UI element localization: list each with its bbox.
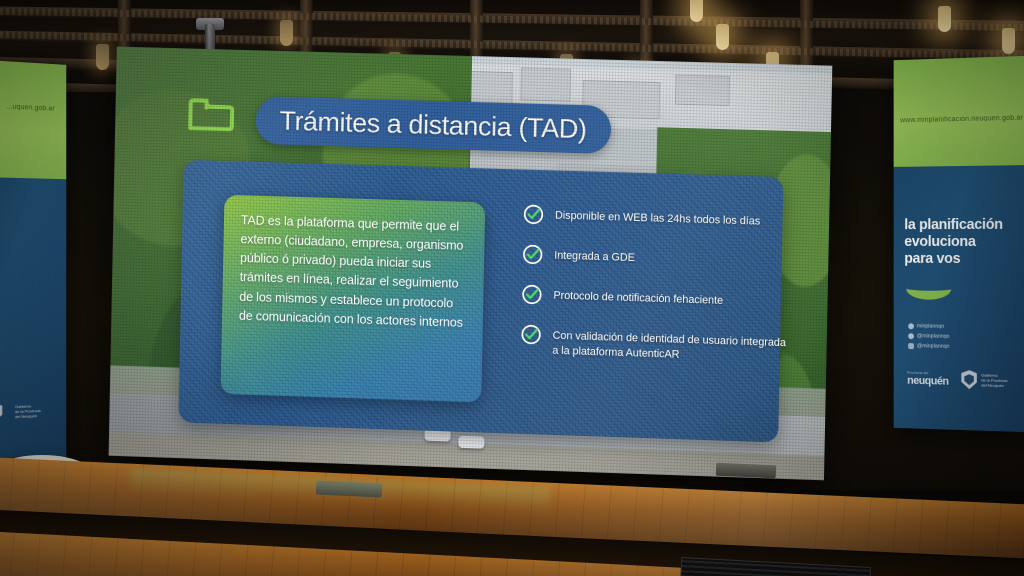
banner-left-gov-text: Gobierno de la Provincia del Neuquén [15,403,41,420]
check-circle-icon [523,204,544,226]
facebook-handle: minplannqn [917,321,944,331]
banner-right-slogan-2: evoluciona [904,235,975,250]
ceiling-spotlight [96,44,109,70]
twitter-handle: @minplannqn [917,331,950,341]
banner-left: ...uquen.gob.ar cación na Gobierno de la… [0,59,66,465]
twitter-icon [908,333,914,339]
stage-front [0,434,1024,576]
banner-left-logo: Gobierno de la Provincia del Neuquén [0,401,41,422]
list-item-label: Integrada a GDE [554,247,635,267]
banner-right-logo: Provincia del neuquén Gobierno de la Pro… [907,369,1007,390]
banner-right-green-header [894,56,1024,167]
folder-icon [186,94,236,135]
mount-plate [716,463,777,479]
ceiling-spotlight [1002,28,1015,54]
social-row-facebook: minplannqn [908,321,949,332]
neuquen-wordmark: Provincia del neuquén [907,370,948,387]
check-circle-icon [520,324,541,346]
check-circle-icon [522,244,543,266]
facebook-icon [908,323,914,329]
slide-feature-list: Disponible en WEB las 24hs todos los día… [520,206,797,389]
list-item: Protocolo de notificación fehaciente [521,286,795,314]
list-item: Con validación de identidad de usuario i… [520,326,794,368]
instagram-handle: @minplannqn [917,341,950,352]
scene-root: ...uquen.gob.ar cación na Gobierno de la… [0,0,1024,576]
slide-title: Trámites a distancia (TAD) [279,105,587,145]
banner-left-body [0,177,66,465]
ceiling-spotlight [690,0,703,22]
ceiling-spotlight [280,20,293,46]
list-item-label: Protocolo de notificación fehaciente [553,287,723,310]
banner-left-green-header [0,59,66,179]
instagram-icon [908,343,914,349]
banner-right-slogan-3: para vos [904,252,960,267]
social-row-instagram: @minplannqn [908,341,949,352]
check-circle-icon [521,284,542,306]
neuquen-shield-icon [961,370,977,389]
list-item-label: Con validación de identidad de usuario i… [552,327,794,368]
neuquen-word: neuquén [907,374,948,387]
slide-description-text: TAD es la plataforma que permite que el … [239,211,470,333]
led-screen: Trámites a distancia (TAD) TAD es la pla… [109,47,833,481]
banner-right: www.minplanificacion.neuquen.gob.ar la p… [894,56,1024,433]
banner-right-socials: minplannqn @minplannqn @minplannqn [908,321,949,352]
neuquen-shield-icon [0,403,2,423]
banner-right-body [894,165,1024,432]
list-item: Integrada a GDE [522,246,796,273]
ceiling-spotlight [716,24,729,50]
ceiling-spotlight [938,6,951,32]
slide-title-pill: Trámites a distancia (TAD) [255,96,611,154]
slide-description-card: TAD es la plataforma que permite que el … [221,195,486,403]
banner-right-slogan-1: la planificación [904,218,1002,234]
banner-right-gov-text: Gobierno de la Provincia del Neuquén [981,372,1007,388]
